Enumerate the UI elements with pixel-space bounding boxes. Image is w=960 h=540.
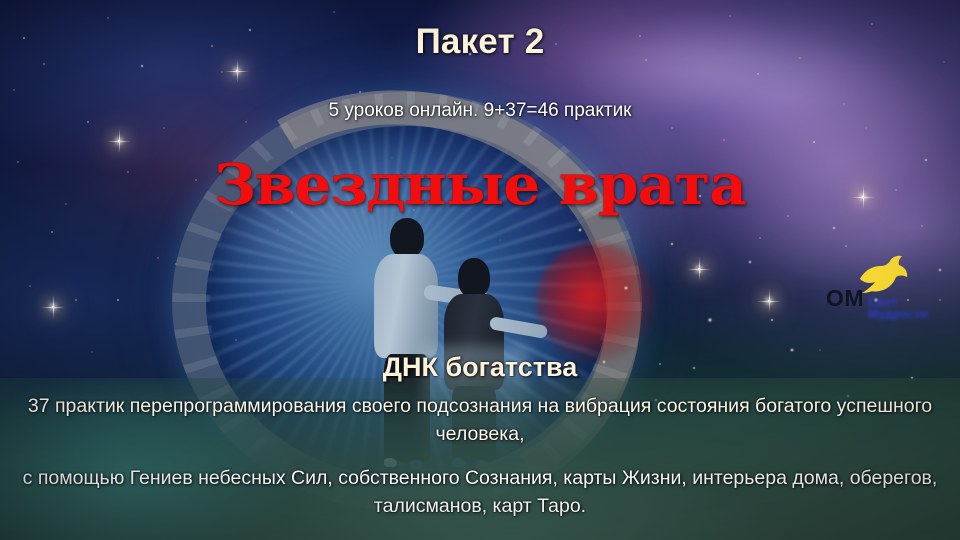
hero-title: Звездные врата bbox=[0, 152, 960, 218]
logo-mark-text: OM bbox=[826, 287, 864, 310]
section-heading: ДНК богатства bbox=[0, 352, 960, 383]
star-flare-icon bbox=[118, 140, 120, 142]
body-paragraph-one: 37 практик перепрограммирования своего п… bbox=[20, 392, 940, 449]
star-flare-icon bbox=[52, 306, 54, 308]
slide-subtitle: 5 уроков онлайн. 9+37=46 практик bbox=[0, 100, 960, 122]
slide-title: Пакет 2 bbox=[0, 22, 960, 62]
star-flare-icon bbox=[236, 70, 238, 72]
woman-head bbox=[458, 258, 490, 298]
presentation-slide: Пакет 2 5 уроков онлайн. 9+37=46 практик… bbox=[0, 0, 960, 540]
body-paragraph-two: с помощью Гениев небесных Сил, собственн… bbox=[20, 464, 940, 521]
logo-tagline-text: Свет Мудрости bbox=[868, 296, 946, 320]
man-torso bbox=[374, 254, 438, 358]
brand-logo[interactable]: OM Свет Мудрости bbox=[826, 252, 946, 324]
logo-wordmark: OM Свет Мудрости bbox=[826, 287, 946, 320]
man-head bbox=[390, 218, 424, 258]
